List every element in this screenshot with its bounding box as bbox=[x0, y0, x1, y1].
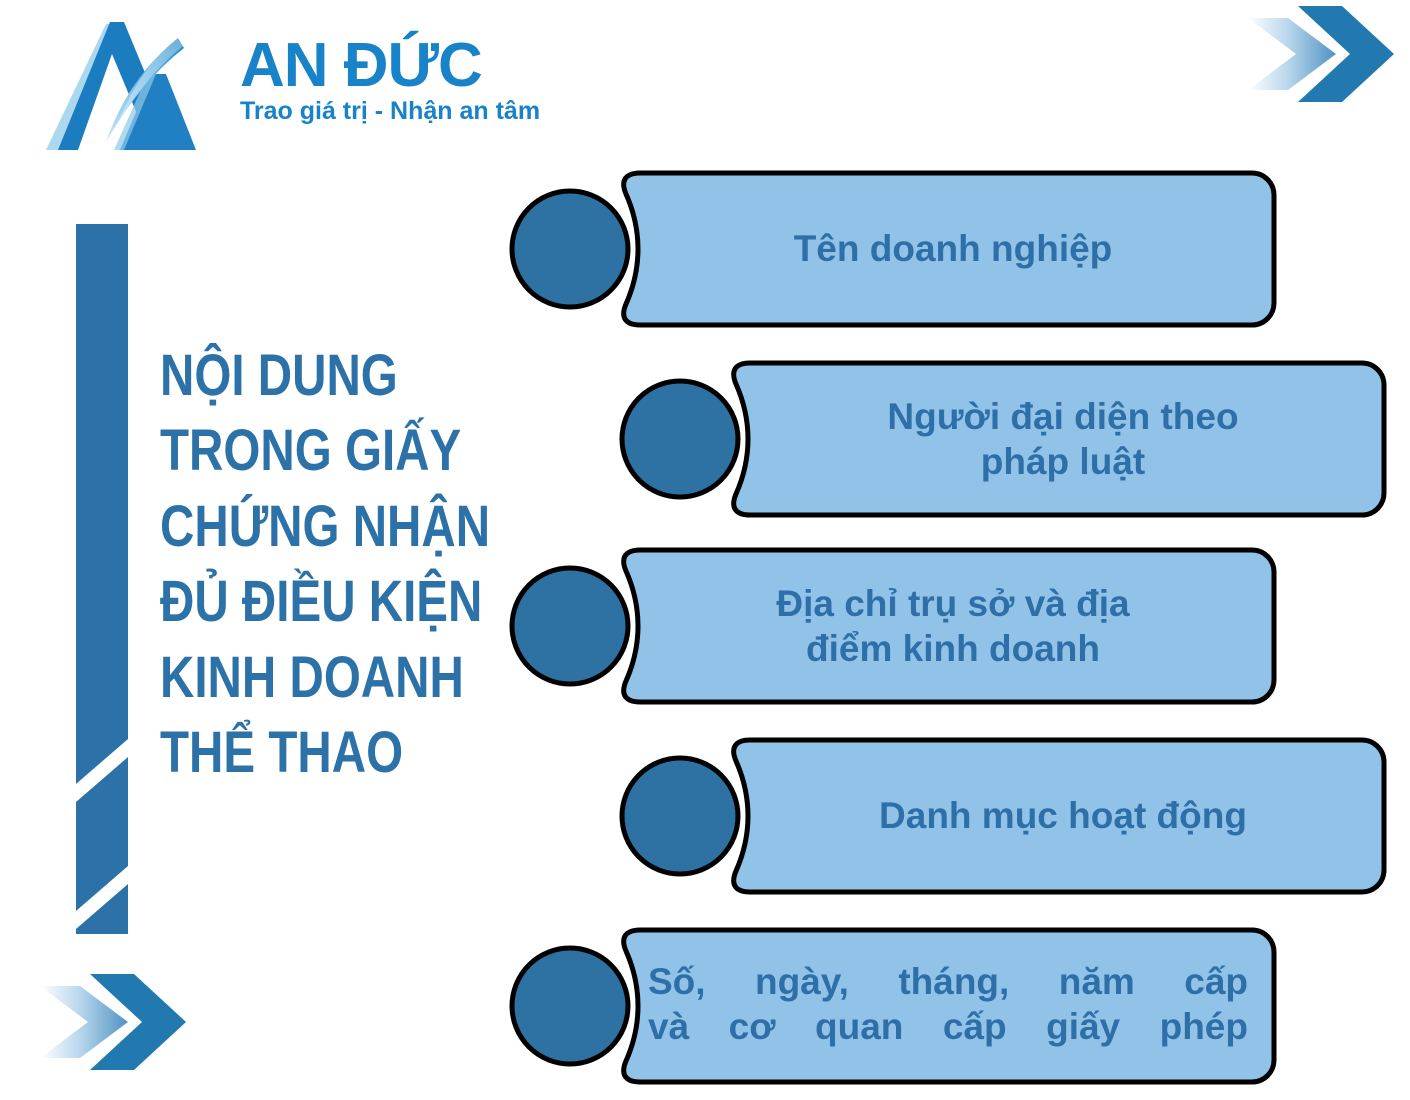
list-item: Tên doanh nghiệp bbox=[508, 168, 1278, 330]
page-title-line: KINH DOANH bbox=[160, 640, 439, 715]
list-item-text: Số, ngày, tháng, năm cấp và cơ quan cấp … bbox=[648, 959, 1248, 1059]
list-item-line: Người đại diện theo bbox=[887, 394, 1238, 439]
infographic-canvas: AN ĐỨC Trao giá trị - Nhận an tâm bbox=[0, 0, 1410, 1100]
page-title-line: CHỨNG NHẬN bbox=[160, 489, 439, 564]
page-title: NỘI DUNG TRONG GIẤY CHỨNG NHẬN ĐỦ ĐIỀU K… bbox=[160, 338, 439, 790]
double-chevron-right-icon-top-right bbox=[1246, 4, 1396, 104]
brand-name: AN ĐỨC bbox=[240, 36, 580, 96]
an-duc-mountain-logo-icon bbox=[44, 18, 214, 154]
list-item-line: và cơ quan cấp giấy phép bbox=[648, 1004, 1248, 1049]
list-item: Số, ngày, tháng, năm cấp và cơ quan cấp … bbox=[508, 925, 1278, 1087]
list-item-line: pháp luật bbox=[981, 439, 1145, 484]
list-item-line: Địa chỉ trụ sở và địa bbox=[776, 581, 1129, 626]
double-chevron-right-icon-bottom-left bbox=[38, 972, 188, 1072]
page-title-line: ĐỦ ĐIỀU KIỆN bbox=[160, 564, 439, 639]
page-title-line: TRONG GIẤY bbox=[160, 413, 439, 488]
brand-lockup: AN ĐỨC Trao giá trị - Nhận an tâm bbox=[240, 36, 580, 125]
list-item-line: Tên doanh nghiệp bbox=[794, 226, 1113, 271]
list-item-text: Tên doanh nghiệp bbox=[648, 168, 1258, 330]
page-title-line: THỂ THAO bbox=[160, 715, 439, 790]
list-item-line: điểm kinh doanh bbox=[806, 626, 1100, 671]
list-item: Địa chỉ trụ sở và địa điểm kinh doanh bbox=[508, 545, 1278, 707]
list-item-text: Danh mục hoạt động bbox=[758, 735, 1368, 897]
page-title-line: NỘI DUNG bbox=[160, 338, 439, 413]
brand-tagline: Trao giá trị - Nhận an tâm bbox=[240, 98, 580, 126]
list-item: Người đại diện theo pháp luật bbox=[618, 358, 1388, 520]
list-item-line: Số, ngày, tháng, năm cấp bbox=[648, 959, 1248, 1004]
list-item-text: Người đại diện theo pháp luật bbox=[758, 358, 1368, 520]
list-item: Danh mục hoạt động bbox=[618, 735, 1388, 897]
brand-logo: AN ĐỨC Trao giá trị - Nhận an tâm bbox=[44, 18, 564, 158]
list-item-line: Danh mục hoạt động bbox=[879, 793, 1247, 838]
list-item-text: Địa chỉ trụ sở và địa điểm kinh doanh bbox=[648, 545, 1258, 707]
segmented-vertical-bar bbox=[76, 224, 128, 934]
